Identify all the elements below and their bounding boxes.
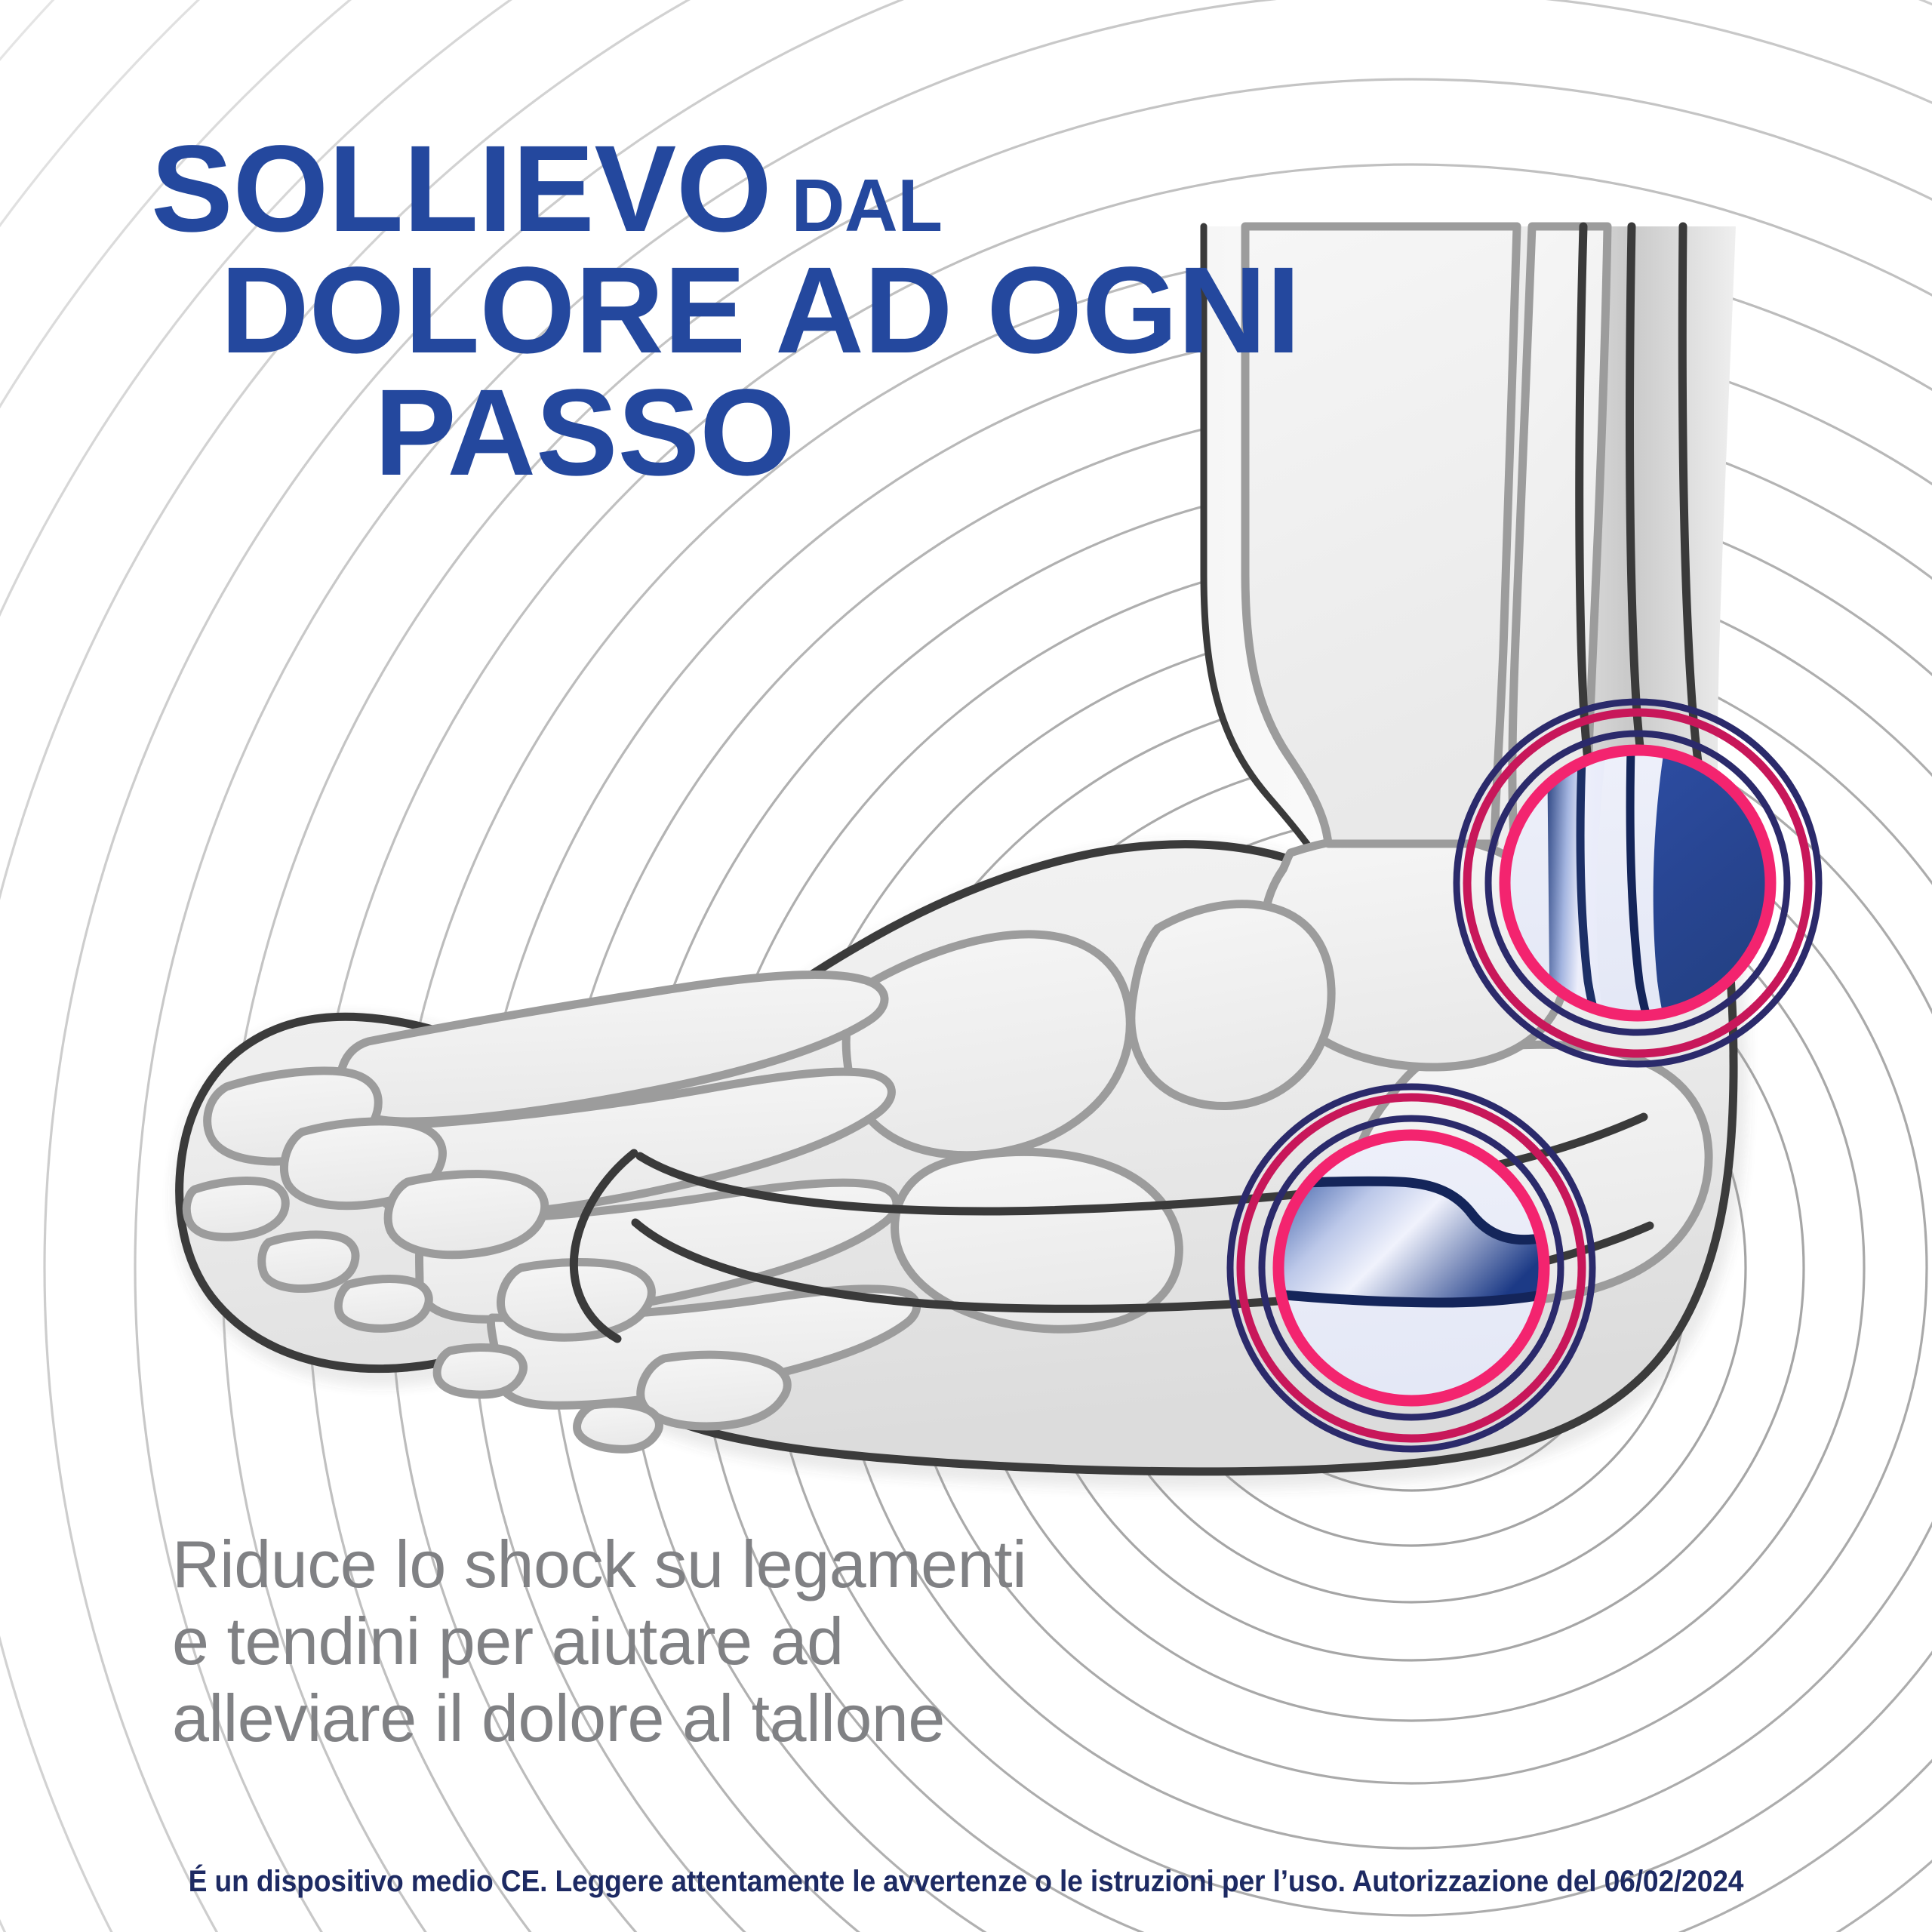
body-copy-line-1: Riduce lo shock su legamenti <box>172 1526 1304 1603</box>
body-copy-block: Riduce lo shock su legamenti e tendini p… <box>172 1526 1304 1757</box>
headline-block: SOLLIEVODAL DOLORE AD OGNI PASSO <box>148 134 1748 486</box>
pain-point-achilles-insertion <box>1457 702 1819 1064</box>
toe-bones <box>186 1071 787 1449</box>
headline-line-1: SOLLIEVODAL <box>151 134 1748 242</box>
pain-point-plantar-heel <box>1230 1087 1597 1449</box>
headline-line-3: PASSO <box>374 378 1748 486</box>
headline-word-sollievo: SOLLIEVO <box>151 119 772 257</box>
foot-skin-silhouette <box>180 844 1734 1472</box>
headline-line-2: DOLORE AD OGNI <box>220 256 1748 364</box>
footer-disclaimer: É un dispositivo medio CE. Leggere atten… <box>68 1865 1865 1899</box>
poster-canvas: SOLLIEVODAL DOLORE AD OGNI PASSO Riduce … <box>0 0 1932 1932</box>
body-copy-line-3: alleviare il dolore al tallone <box>172 1680 1304 1757</box>
headline-word-dal: DAL <box>792 164 943 247</box>
body-copy-line-2: e tendini per aiutare ad <box>172 1603 1304 1680</box>
foot-bones <box>846 835 1709 1329</box>
metatarsal-bones <box>340 974 917 1405</box>
